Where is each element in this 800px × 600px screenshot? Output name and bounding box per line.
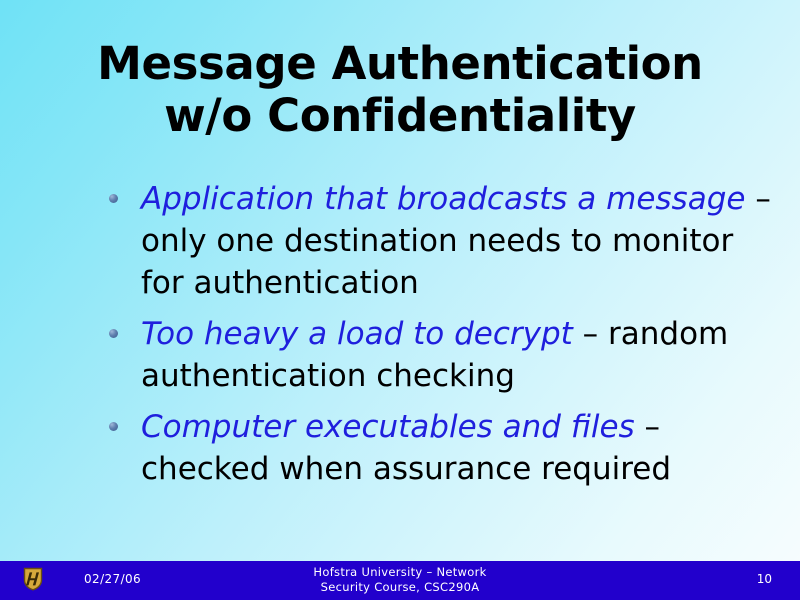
- slide-body: Application that broadcasts a message – …: [105, 178, 785, 499]
- title-line-2: w/o Confidentiality: [0, 90, 800, 142]
- bullet-text-3: Computer executables and files – checked…: [141, 406, 785, 490]
- footer-course-line-1: Hofstra University – Network: [0, 565, 800, 580]
- bullet-sphere-icon: [109, 194, 118, 203]
- bullet-emphasis-2: Too heavy a load to decrypt: [141, 316, 573, 352]
- footer-course-line-2: Security Course, CSC290A: [0, 580, 800, 595]
- bullet-emphasis-1: Application that broadcasts a message: [141, 181, 745, 217]
- bullet-text-1: Application that broadcasts a message – …: [141, 178, 785, 304]
- bullet-text-2: Too heavy a load to decrypt – random aut…: [141, 313, 785, 397]
- list-item: Computer executables and files – checked…: [105, 406, 785, 490]
- bullet-sphere-icon: [109, 329, 118, 338]
- footer-page-number: 10: [757, 572, 772, 586]
- list-item: Application that broadcasts a message – …: [105, 178, 785, 304]
- list-item: Too heavy a load to decrypt – random aut…: [105, 313, 785, 397]
- slide-canvas: Message Authentication w/o Confidentiali…: [0, 0, 800, 600]
- slide-title: Message Authentication w/o Confidentiali…: [0, 38, 800, 142]
- bullet-sphere-icon: [109, 422, 118, 431]
- title-line-1: Message Authentication: [0, 38, 800, 90]
- footer-course-info: Hofstra University – Network Security Co…: [0, 565, 800, 595]
- bullet-emphasis-3: Computer executables and files: [141, 409, 635, 445]
